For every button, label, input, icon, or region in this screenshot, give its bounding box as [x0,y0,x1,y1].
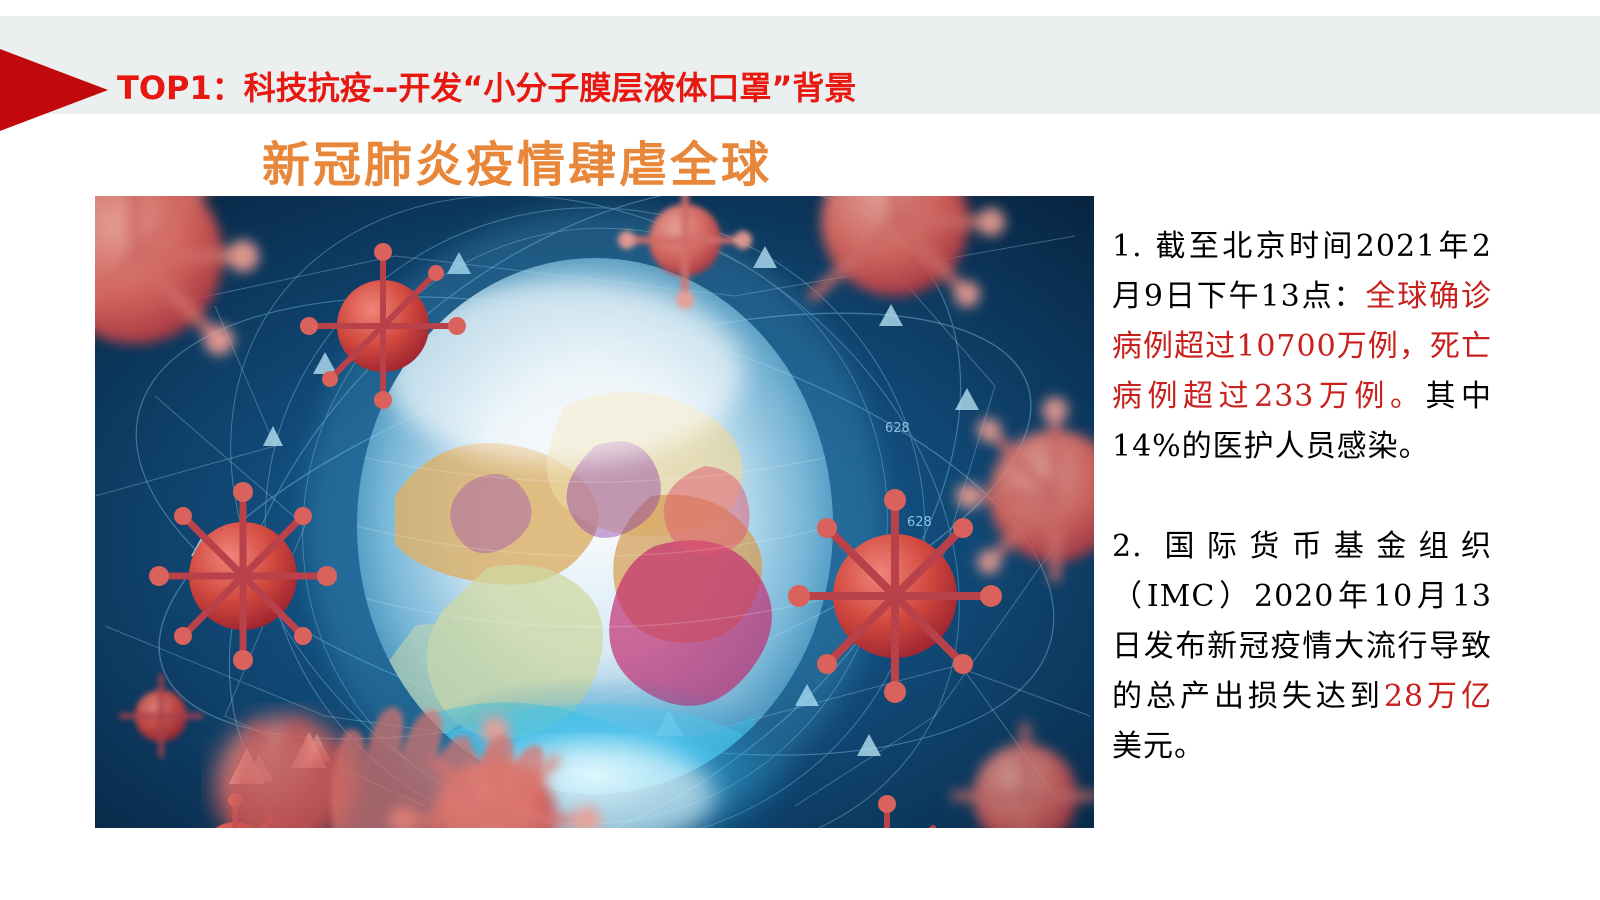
globe-virus-graphic: 628 628 628 [95,196,1094,828]
header-band: TOP1：科技抗疫--开发“小分子膜层液体口罩”背景 [0,16,1600,114]
slide-heading: 新冠肺炎疫情肆虐全球 [262,125,772,195]
figure-label: 628 [907,515,932,530]
paragraph-imf-economic-loss: 2. 国际货币基金组织（IMC）2020年10月13日发布新冠疫情大流行导致的总… [1112,522,1492,772]
para2-segment-highlight: 28万亿 [1384,679,1492,714]
para2-segment-3: 美元。 [1112,729,1205,764]
info-text-column: 1. 截至北京时间2021年2月9日下午13点：全球确诊病例超过10700万例，… [1112,222,1492,772]
triangle-right-icon [0,49,108,131]
page-title: TOP1：科技抗疫--开发“小分子膜层液体口罩”背景 [117,63,856,109]
covid-globe-illustration: 628 628 628 [95,196,1094,828]
figure-label: 628 [885,421,910,436]
paragraph-covid-statistics: 1. 截至北京时间2021年2月9日下午13点：全球确诊病例超过10700万例，… [1112,222,1492,472]
